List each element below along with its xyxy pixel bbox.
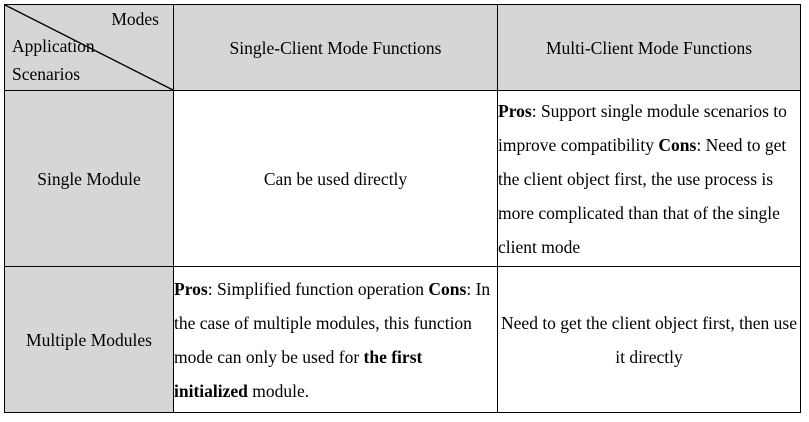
cons-separator: : [466,279,475,299]
pros-separator: : [208,279,217,299]
cell-multiple-modules-single-client: Pros: Simplified function operation Cons… [174,267,498,413]
table-row: Multiple Modules Pros: Simplified functi… [5,267,801,413]
cons-separator: : [696,135,705,155]
pros-separator: : [532,101,541,121]
table-row: Single Module Can be used directly Pros:… [5,91,801,267]
header-corner-cell: Modes Application Scenarios [5,5,174,91]
row-header-single-module: Single Module [5,91,174,267]
pros-label: Pros [498,101,532,121]
cell-single-module-multi-client: Pros: Support single module scenarios to… [498,91,801,267]
corner-scenarios-label: Scenarios [12,60,80,89]
cons-label: Cons [428,279,466,299]
corner-inner: Modes Application Scenarios [5,5,173,90]
mode-comparison-table: Modes Application Scenarios Single-Clien… [4,4,801,413]
table-page: Modes Application Scenarios Single-Clien… [0,0,809,422]
column-header-single-client: Single-Client Mode Functions [174,5,498,91]
cell-multiple-modules-multi-client: Need to get the client object first, the… [498,267,801,413]
cell-single-module-single-client: Can be used directly [174,91,498,267]
corner-application-label: Application [12,32,95,61]
cons-label: Cons [658,135,696,155]
column-header-multi-client: Multi-Client Mode Functions [498,5,801,91]
row-header-multiple-modules: Multiple Modules [5,267,174,413]
table-header-row: Modes Application Scenarios Single-Clien… [5,5,801,91]
cons-text-after-emphasis: module. [248,381,309,401]
pros-label: Pros [174,279,208,299]
corner-modes-label: Modes [111,5,159,34]
pros-text: Simplified function operation [217,279,424,299]
